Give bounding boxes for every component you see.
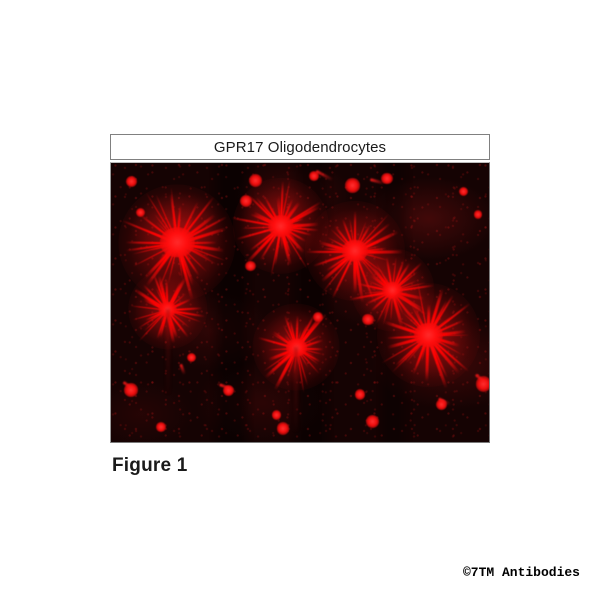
copyright-credit: ©7TM Antibodies [463,565,580,580]
fluorescent-punctum [355,389,366,400]
fluorescent-punctum [249,174,262,187]
fluorescent-punctum [459,187,468,196]
fluorescent-punctum [245,261,256,272]
panel-title-text: GPR17 Oligodendrocytes [214,139,386,156]
micrograph-panel [110,162,490,443]
fluorescent-punctum [362,314,373,325]
fluorescent-punctum [277,422,289,434]
fluorescent-punctum [126,176,137,187]
panel-title-bar: GPR17 Oligodendrocytes [110,134,490,160]
fluorescent-punctum [313,312,323,322]
fluorescent-punctum [366,415,379,428]
figure-root: GPR17 Oligodendrocytes Figure 1 ©7TM Ant… [0,0,600,600]
fluorescent-punctum [187,353,196,362]
fluorescent-streak [179,364,186,376]
fluorescent-punctum [240,195,252,207]
fluorescent-punctum [156,422,166,432]
fluorescent-punctum [136,208,145,217]
fluorescent-punctum [345,178,359,192]
fluorescent-punctum [474,210,482,218]
fluorescent-punctum [272,410,282,420]
puncta-debris-layer [111,163,489,442]
figure-caption: Figure 1 [112,455,188,477]
